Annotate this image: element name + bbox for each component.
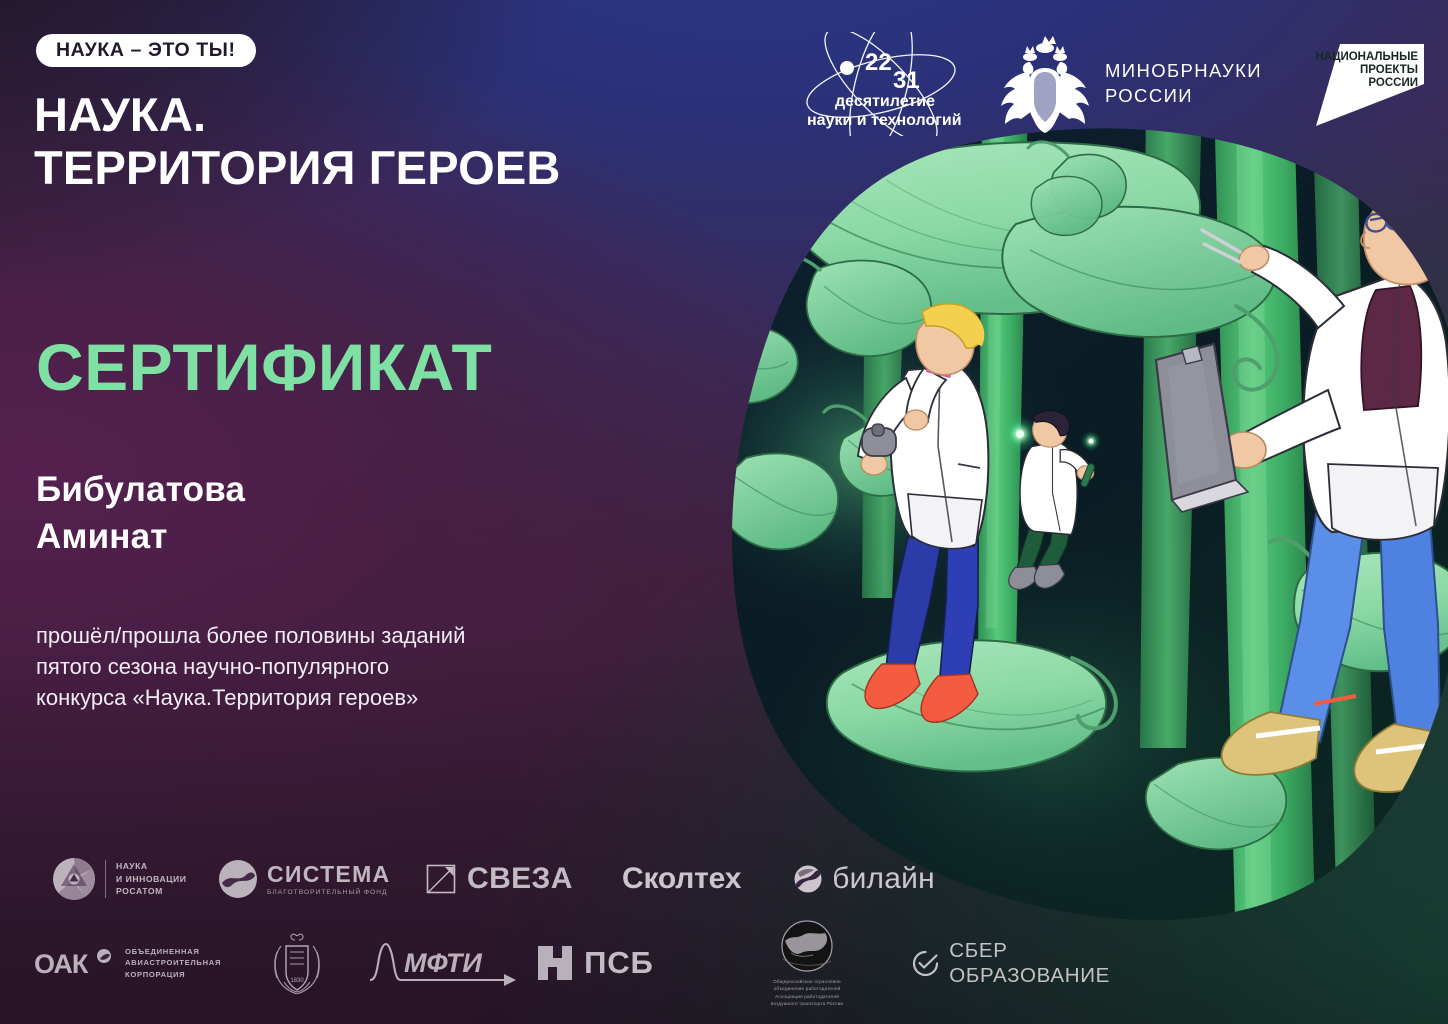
sveza-name: СВЕЗА bbox=[467, 864, 573, 894]
sponsor-sveza: СВЕЗА bbox=[426, 864, 576, 894]
beeline-name: билайн bbox=[832, 862, 935, 896]
sponsor-skoltech: Сколтех bbox=[622, 862, 741, 896]
sponsor-logos: НАУКА И ИННОВАЦИИ РОСАТОМ СИСТЕМА БЛАГОТ… bbox=[0, 848, 1110, 996]
decade-of-science-logo: 22 31 десятилетие науки и технологий bbox=[795, 30, 997, 138]
sponsor-mipt: МФТИ bbox=[368, 940, 518, 986]
brand-badge: НАУКА – ЭТО ТЫ! bbox=[36, 34, 256, 67]
natproj-line1: НАЦИОНАЛЬНЫЕ bbox=[1315, 51, 1418, 63]
natproj-line2: ПРОЕКТЫ bbox=[1360, 64, 1418, 76]
sponsor-air-transport-association: Общероссийское отраслевое объединение ра… bbox=[732, 919, 882, 1007]
sponsor-bauman: 1830 bbox=[252, 932, 342, 994]
certificate-canvas: НАУКА – ЭТО ТЫ! НАУКА. ТЕРРИТОРИЯ ГЕРОЕВ… bbox=[0, 0, 1448, 1024]
oak-icon: ОАК bbox=[34, 948, 116, 978]
sponsor-row-1: НАУКА И ИННОВАЦИИ РОСАТОМ СИСТЕМА БЛАГОТ… bbox=[0, 848, 1110, 910]
sponsor-sber-education: СБЕР ОБРАЗОВАНИЕ bbox=[912, 938, 1110, 988]
bauman-year: 1830 bbox=[290, 978, 304, 984]
mipt-name: МФТИ bbox=[404, 948, 482, 978]
sponsor-oak: ОАК ОБЪЕДИНЕННАЯ АВИАСТРОИТЕЛЬНАЯ КОРПОР… bbox=[34, 946, 220, 980]
air-transport-icon bbox=[771, 919, 843, 975]
decade-year-end: 31 bbox=[893, 67, 920, 94]
sber-icon bbox=[912, 950, 939, 977]
sponsor-sistema: СИСТЕМА БЛАГОТВОРИТЕЛЬНЫЙ ФОНД bbox=[218, 859, 388, 899]
sistema-icon bbox=[218, 859, 258, 899]
certificate-title: СЕРТИФИКАТ bbox=[36, 334, 492, 400]
mipt-icon: МФТИ bbox=[368, 940, 518, 986]
beeline-icon bbox=[793, 864, 823, 894]
sponsor-beeline: билайн bbox=[793, 862, 935, 896]
rosatom-name: НАУКА И ИННОВАЦИИ РОСАТОМ bbox=[105, 860, 187, 897]
sistema-subtitle: БЛАГОТВОРИТЕЛЬНЫЙ ФОНД bbox=[267, 889, 390, 896]
oak-name: ОБЪЕДИНЕННАЯ АВИАСТРОИТЕЛЬНАЯ КОРПОРАЦИЯ bbox=[125, 946, 221, 980]
decade-line2: науки и технологий bbox=[807, 112, 962, 129]
sistema-name: СИСТЕМА bbox=[267, 863, 390, 886]
national-projects-logo: НАЦИОНАЛЬНЫЕ ПРОЕКТЫ РОССИИ bbox=[1262, 30, 1428, 138]
natproj-line3: РОССИИ bbox=[1368, 77, 1418, 89]
ministry-logo-group: МИНОБРНАУКИ РОССИИ bbox=[997, 30, 1262, 138]
sponsor-row-2: ОАК ОБЪЕДИНЕННАЯ АВИАСТРОИТЕЛЬНАЯ КОРПОР… bbox=[0, 930, 1110, 996]
sponsor-rosatom: НАУКА И ИННОВАЦИИ РОСАТОМ bbox=[52, 857, 188, 901]
rosatom-icon bbox=[52, 857, 96, 901]
scientists-plant-illustration bbox=[716, 128, 1448, 928]
bauman-crest-icon: 1830 bbox=[268, 932, 326, 994]
decade-year-start: 22 bbox=[865, 49, 892, 76]
russian-double-eagle-emblem-icon bbox=[997, 32, 1093, 136]
psb-name: ПСБ bbox=[584, 945, 653, 981]
psb-icon bbox=[536, 944, 574, 982]
svg-text:ОАК: ОАК bbox=[34, 949, 89, 978]
brand-title: НАУКА. ТЕРРИТОРИЯ ГЕРОЕВ bbox=[34, 88, 561, 194]
partner-logos-header: 22 31 десятилетие науки и технологий bbox=[795, 30, 1428, 138]
ministry-name: МИНОБРНАУКИ РОССИИ bbox=[1105, 59, 1262, 109]
sponsor-psb: ПСБ bbox=[536, 944, 664, 982]
recipient-name: Бибулатова Аминат bbox=[36, 466, 245, 561]
air-transport-name: Общероссийское отраслевое объединение ра… bbox=[771, 978, 843, 1007]
achievement-description: прошёл/прошла более половины заданий пят… bbox=[36, 620, 465, 714]
decade-line1: десятилетие bbox=[835, 93, 935, 110]
sber-name: СБЕР ОБРАЗОВАНИЕ bbox=[949, 938, 1110, 988]
sveza-icon bbox=[426, 864, 456, 894]
